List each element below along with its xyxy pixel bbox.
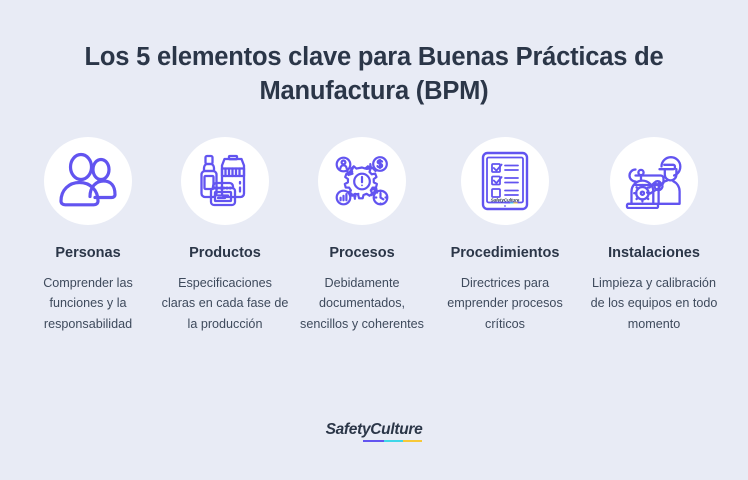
logo-bar-yellow: [403, 440, 422, 443]
element-label: Procesos: [329, 245, 394, 261]
icon-circle-procesos: [318, 137, 406, 225]
process-gear-cycle-icon: [332, 152, 392, 210]
safetyculture-logo: SafetyCulture: [326, 422, 423, 443]
element-description: Directrices para emprender procesos crít…: [435, 273, 575, 334]
infographic-page: Los 5 elementos clave para Buenas Prácti…: [0, 0, 748, 480]
logo-bar-purple: [363, 440, 384, 443]
element-card-procesos: Procesos Debidamente documentados, senci…: [298, 137, 426, 334]
element-description: Limpieza y calibración de los equipos en…: [584, 273, 724, 334]
element-card-productos: Productos Especificaciones claras en cad…: [161, 137, 289, 334]
element-card-personas: Personas Comprender las funciones y la r…: [24, 137, 152, 334]
icon-circle-personas: [44, 137, 132, 225]
icon-circle-instalaciones: [610, 137, 698, 225]
worker-machine-maintenance-icon: [623, 153, 685, 209]
footer: SafetyCulture: [0, 422, 748, 443]
page-title: Los 5 elementos clave para Buenas Prácti…: [64, 40, 684, 109]
element-label: Instalaciones: [608, 245, 700, 261]
element-label: Personas: [55, 245, 120, 261]
logo-bar-cyan: [384, 440, 403, 443]
element-card-instalaciones: Instalaciones Limpieza y calibración de …: [584, 137, 724, 334]
element-label: Procedimientos: [451, 245, 560, 261]
element-label: Productos: [189, 245, 261, 261]
tablet-checklist-icon: SafetyCulture: [481, 151, 529, 211]
element-card-procedimientos: SafetyCulture Procedimientos Directrices…: [435, 137, 575, 334]
element-description: Debidamente documentados, sencillos y co…: [298, 273, 426, 334]
icon-circle-procedimientos: SafetyCulture: [461, 137, 549, 225]
safetyculture-logo-text: SafetyCulture: [326, 422, 423, 438]
element-description: Especificaciones claras en cada fase de …: [161, 273, 289, 334]
element-description: Comprender las funciones y la responsabi…: [24, 273, 152, 334]
tablet-brand-text: SafetyCulture: [491, 197, 520, 202]
elements-row: Personas Comprender las funciones y la r…: [24, 137, 724, 334]
icon-circle-productos: [181, 137, 269, 225]
people-icon: [57, 152, 119, 210]
logo-color-bars: [363, 440, 422, 443]
product-bottles-icon: [196, 152, 254, 210]
